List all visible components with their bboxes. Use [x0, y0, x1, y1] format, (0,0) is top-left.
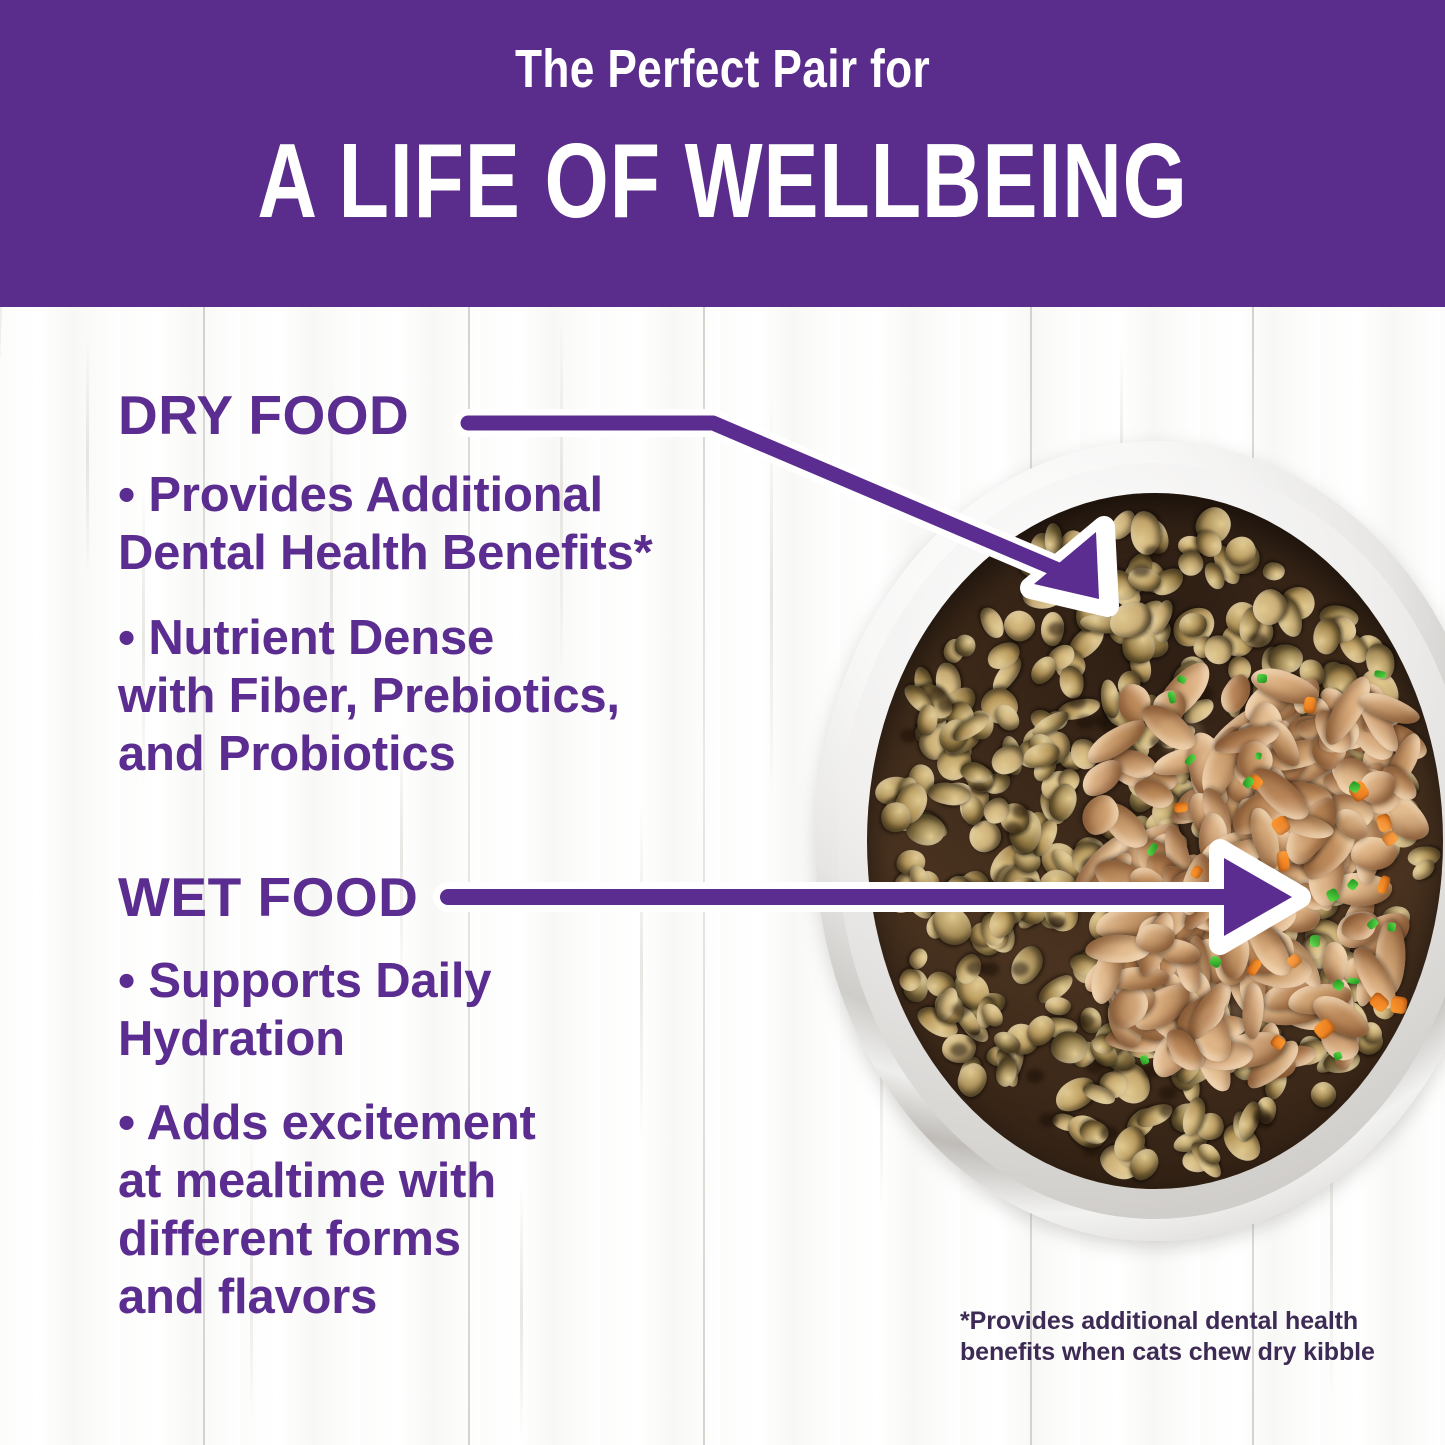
dry-food-bullet-1-line-2: Dental Health Benefits*	[118, 524, 653, 582]
infographic-canvas: The Perfect Pair for A LIFE OF WELLBEING…	[0, 0, 1445, 1445]
wet-food-bullet-2-line-4: and flavors	[118, 1268, 377, 1326]
wet-food-bullet-2-line-3: different forms	[118, 1210, 461, 1268]
wet-food-bullet-2-line-1: • Adds excitement	[118, 1094, 536, 1152]
dry-food-bullet-2-line-1: • Nutrient Dense	[118, 609, 494, 667]
dry-food-bullet-1-line-1: • Provides Additional	[118, 466, 603, 524]
dry-food-bullet-2-line-3: and Probiotics	[118, 725, 456, 783]
dry-food-heading: DRY FOOD	[118, 386, 409, 444]
wet-food-heading: WET FOOD	[118, 868, 418, 926]
wet-food-layer	[867, 493, 1443, 1189]
bowl-interior	[867, 493, 1443, 1189]
footnote-block: *Provides additional dental health benef…	[960, 1306, 1390, 1368]
dry-food-bullet-2-line-2: with Fiber, Prebiotics,	[118, 667, 620, 725]
footnote-line-1: *Provides additional dental health	[960, 1306, 1390, 1337]
wet-food-bullet-2-line-2: at mealtime with	[118, 1152, 496, 1210]
footnote-line-2: benefits when cats chew dry kibble	[960, 1337, 1390, 1368]
header-banner: The Perfect Pair for A LIFE OF WELLBEING	[0, 0, 1445, 307]
header-kicker: The Perfect Pair for	[130, 40, 1315, 98]
header-headline: A LIFE OF WELLBEING	[159, 128, 1286, 234]
wet-food-bullet-1-line-2: Hydration	[118, 1010, 345, 1068]
wet-food-bullet-1-line-1: • Supports Daily	[118, 952, 491, 1010]
pet-food-bowl-image	[815, 435, 1445, 1265]
